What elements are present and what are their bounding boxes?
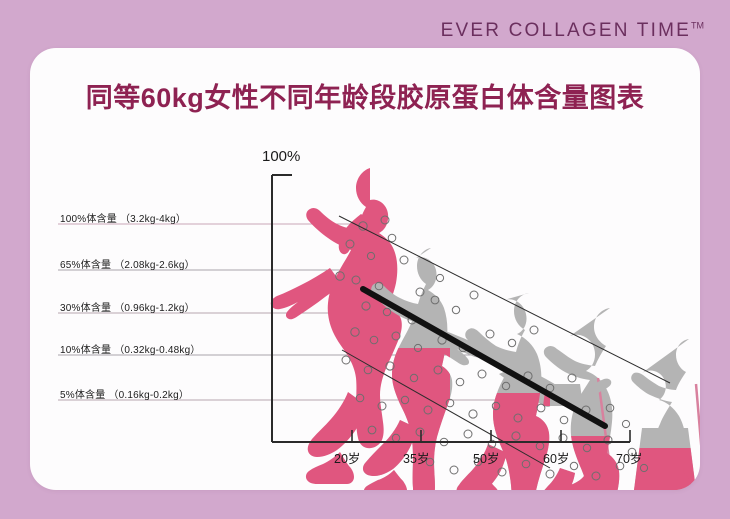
- x-axis-label-70: 70岁: [616, 448, 642, 467]
- leader-label-65: 65%体含量 （2.08kg-2.6kg）: [60, 256, 195, 271]
- leader-label-100: 100%体含量 （3.2kg-4kg）: [60, 210, 186, 225]
- figure-20-legs: [306, 392, 366, 484]
- y-axis-top-label: 100%: [262, 148, 300, 165]
- brand-name: EVER COLLAGEN TIME: [441, 20, 691, 41]
- leader-label-10: 10%体含量 （0.32kg-0.48kg）: [60, 341, 201, 356]
- figure-age-20: [271, 168, 402, 484]
- chart-card: 同等60kg女性不同年龄段胶原蛋白体含量图表: [30, 48, 700, 490]
- x-axis-label-60: 60岁: [543, 448, 569, 467]
- chart-plot-area: 100% 100%体含量 （3.2kg-4kg） 65%体含量 （2.08kg-…: [30, 48, 700, 490]
- figure-70-cane: [696, 384, 700, 490]
- screenshot-root: EVER COLLAGEN TIMETM 同等60kg女性不同年龄段胶原蛋白体含…: [0, 0, 730, 519]
- leader-label-5: 5%体含量 （0.16kg-0.2kg）: [60, 386, 189, 401]
- x-axis-label-35: 35岁: [403, 448, 429, 467]
- brand-logo: EVER COLLAGEN TIMETM: [441, 20, 704, 42]
- trademark-symbol: TM: [691, 21, 704, 31]
- leader-label-30: 30%体含量 （0.96kg-1.2kg）: [60, 299, 195, 314]
- x-axis-label-50: 50岁: [473, 448, 499, 467]
- x-axis-label-20: 20岁: [334, 448, 360, 467]
